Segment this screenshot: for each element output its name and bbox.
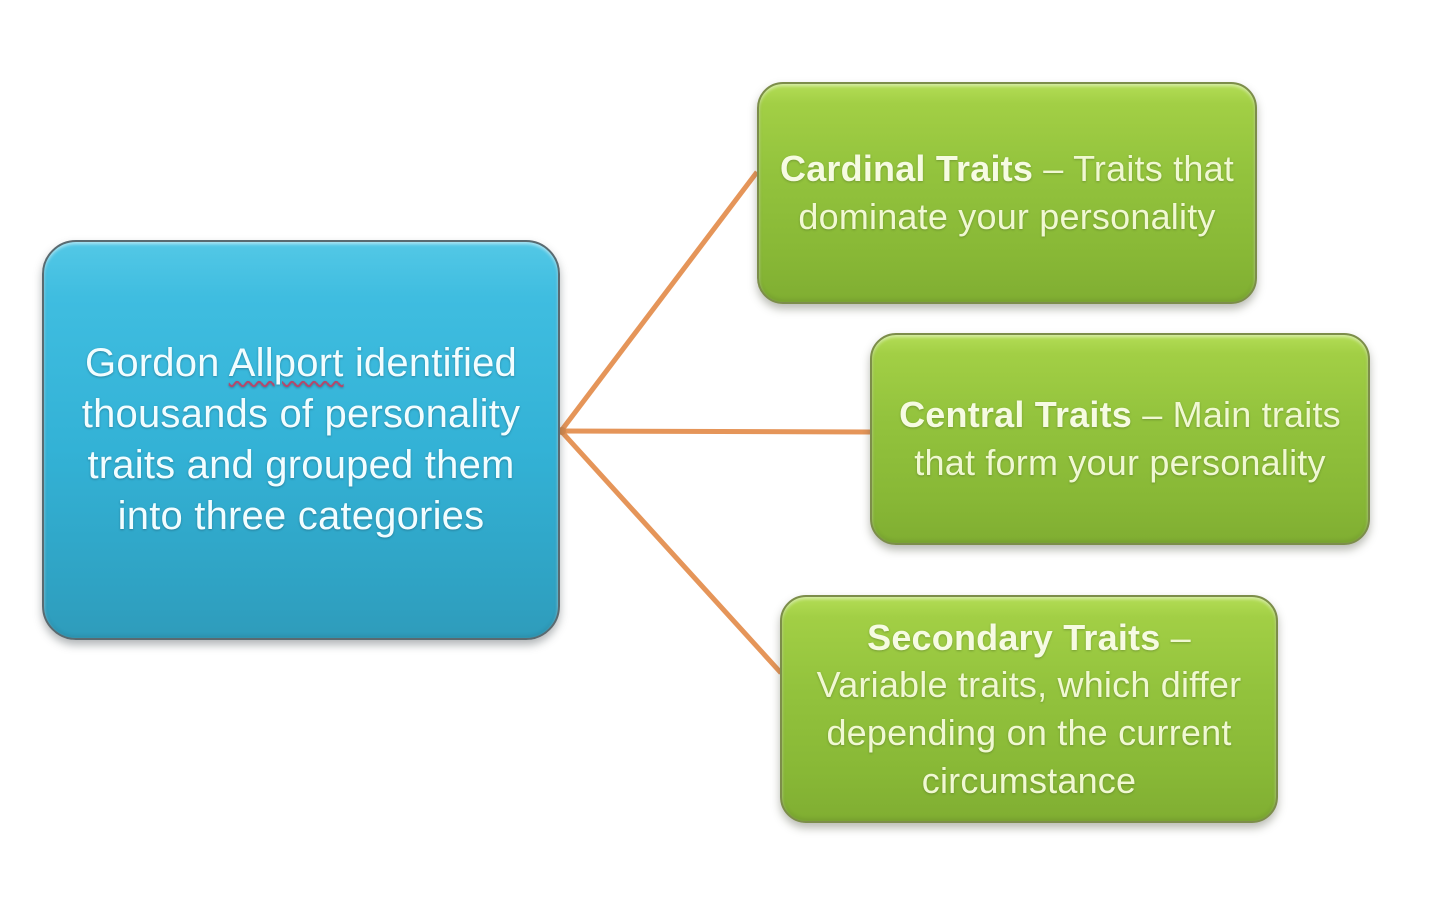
- connector-to-central-line: [561, 431, 871, 432]
- branch-node-secondary-traits[interactable]: Secondary Traits – Variable traits, whic…: [780, 595, 1278, 823]
- branch-label-secondary-traits: Secondary Traits: [867, 617, 1160, 658]
- diagram-canvas: Gordon Allport identified thousands of p…: [0, 0, 1440, 901]
- branch-node-cardinal-traits[interactable]: Cardinal Traits – Traits that dominate y…: [757, 82, 1257, 304]
- branch-separator-cardinal-traits: –: [1033, 148, 1073, 189]
- branch-label-central-traits: Central Traits: [899, 394, 1132, 435]
- branch-node-central-traits[interactable]: Central Traits – Main traits that form y…: [870, 333, 1370, 545]
- root-node-name-prefix: Gordon: [85, 341, 229, 385]
- branch-node-cardinal-traits-text: Cardinal Traits – Traits that dominate y…: [759, 145, 1255, 240]
- root-node[interactable]: Gordon Allport identified thousands of p…: [42, 240, 560, 640]
- connector-to-cardinal-line: [561, 172, 757, 431]
- branch-label-cardinal-traits: Cardinal Traits: [780, 148, 1033, 189]
- branch-separator-secondary-traits: –: [1160, 617, 1190, 658]
- branch-node-secondary-traits-text: Secondary Traits – Variable traits, whic…: [782, 614, 1276, 804]
- branch-node-central-traits-text: Central Traits – Main traits that form y…: [872, 391, 1368, 486]
- root-node-text: Gordon Allport identified thousands of p…: [44, 338, 558, 543]
- branch-description-secondary-traits: Variable traits, which differ depending …: [817, 664, 1242, 800]
- connector-to-secondary-line: [561, 431, 781, 673]
- root-node-misspelled-word: Allport: [229, 341, 344, 385]
- branch-separator-central-traits: –: [1132, 394, 1173, 435]
